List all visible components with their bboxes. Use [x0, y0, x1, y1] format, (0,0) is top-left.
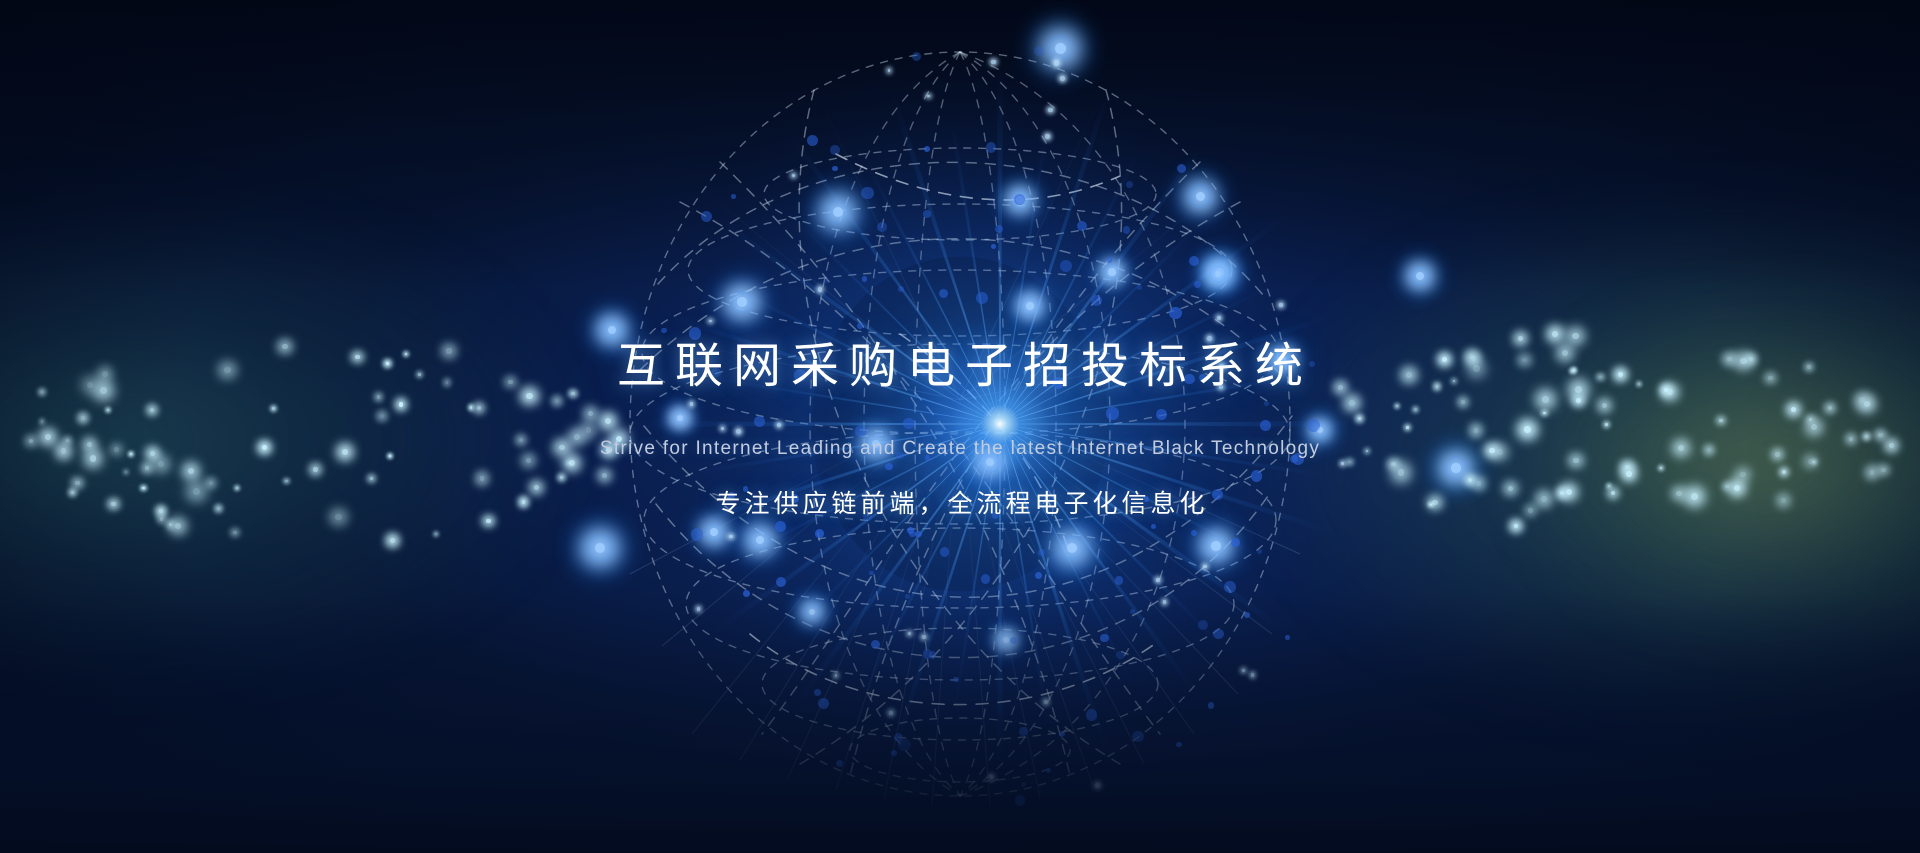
bottom-fade-overlay [0, 593, 1920, 853]
english-slogan: Strive for Internet Leading and Create t… [0, 436, 1920, 462]
hero-banner: 互联网采购电子招投标系统 Strive for Internet Leading… [0, 0, 1920, 853]
page-title: 互联网采购电子招投标系统 [0, 337, 1920, 397]
chinese-slogan: 专注供应链前端，全流程电子化信息化 [0, 486, 1920, 522]
